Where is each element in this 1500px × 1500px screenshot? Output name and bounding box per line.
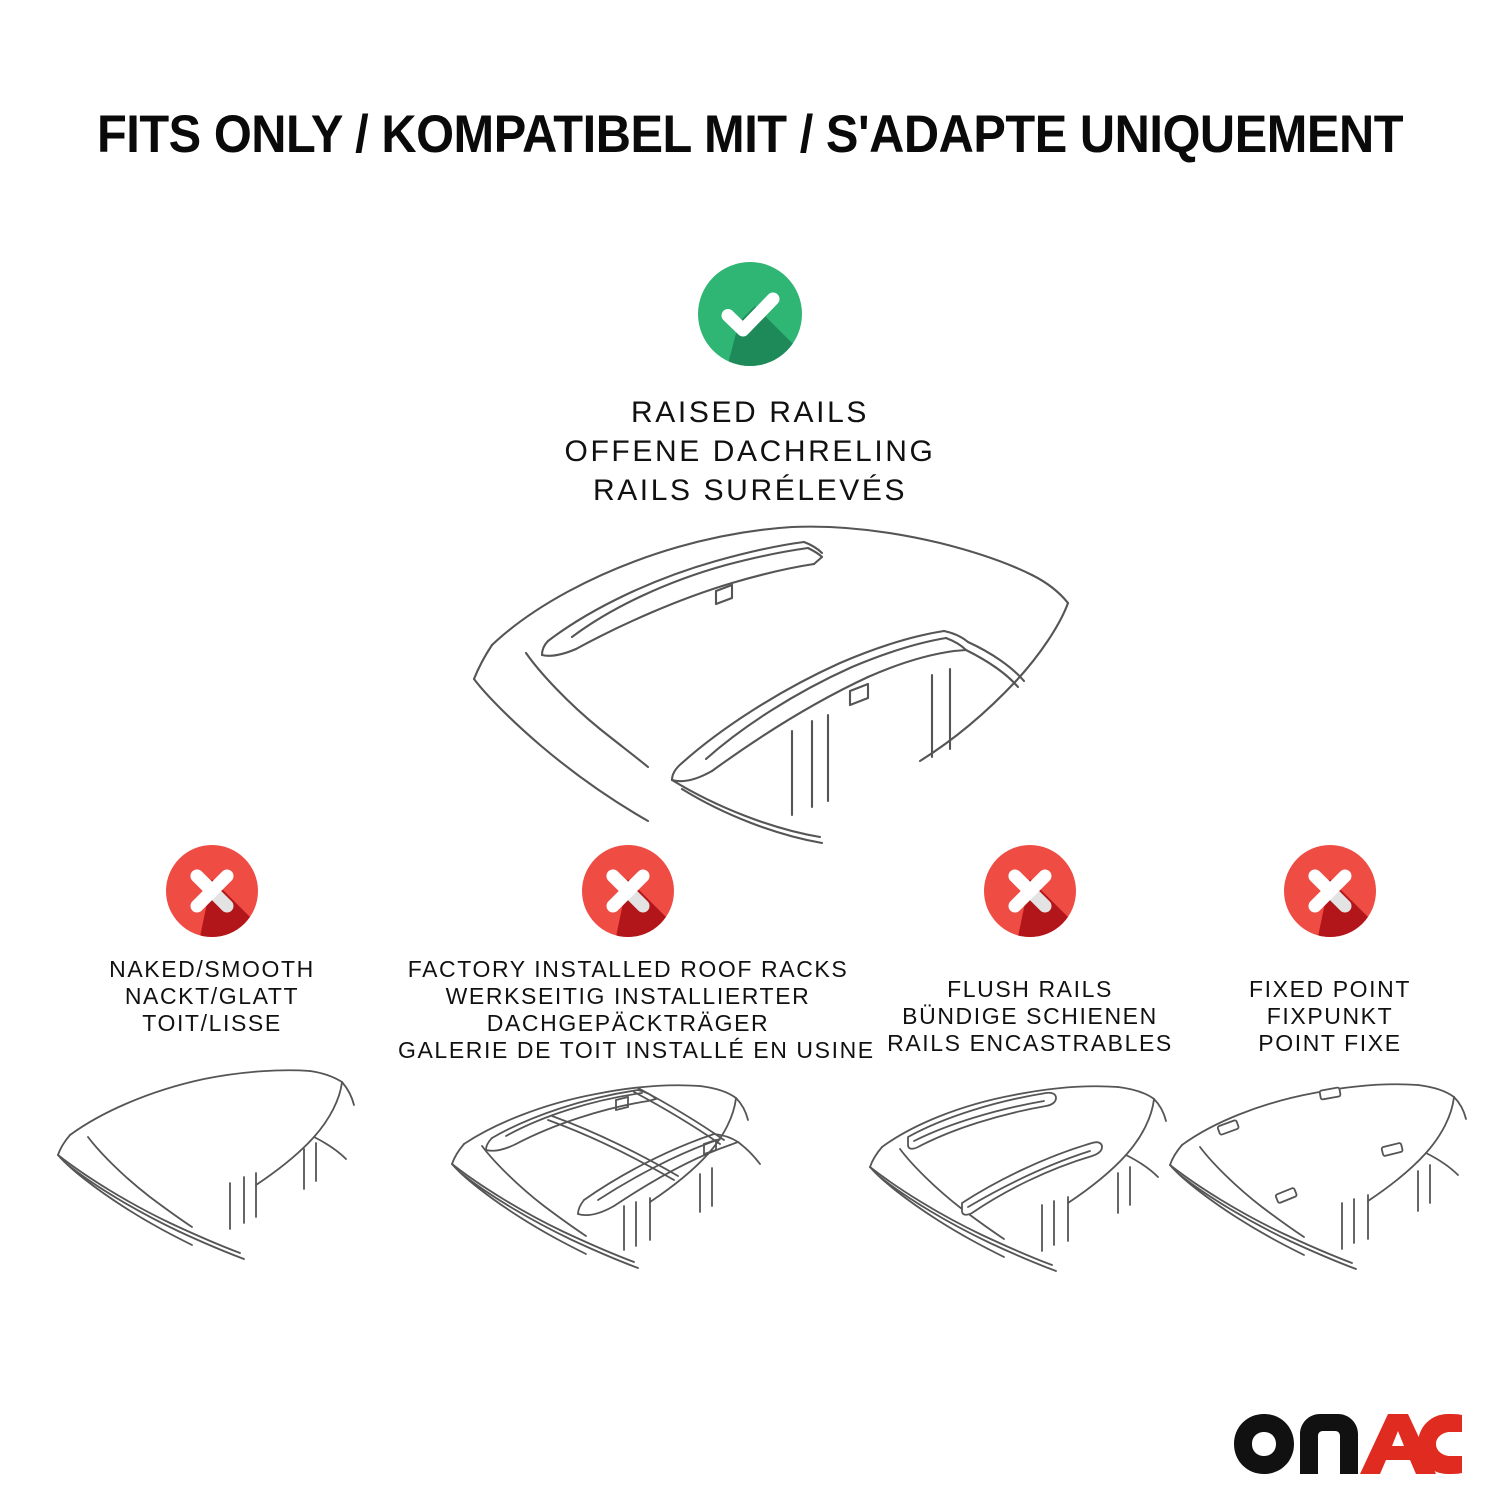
logo-letter-m [1300, 1414, 1358, 1474]
incompatible-label-naked-smooth: NAKED/SMOOTH NACKT/GLATT TOIT/LISSE [52, 956, 372, 1037]
label-line-fr: POINT FIXE [1160, 1030, 1500, 1057]
car-roof-raised-rails-illustration [420, 505, 1110, 835]
label-line-en: FLUSH RAILS [860, 976, 1200, 1003]
x-circle-icon [984, 845, 1076, 937]
incompatible-item-flush-rails: FLUSH RAILS BÜNDIGE SCHIENEN RAILS ENCAS… [860, 845, 1200, 1305]
label-line-en: FACTORY INSTALLED ROOF RACKS [398, 956, 858, 983]
page-title: FITS ONLY / KOMPATIBEL MIT / S'ADAPTE UN… [60, 104, 1440, 165]
car-roof-naked-smooth-illustration [52, 1057, 372, 1282]
car-roof-factory-racks-illustration [398, 1078, 858, 1313]
incompatible-label-flush-rails: FLUSH RAILS BÜNDIGE SCHIENEN RAILS ENCAS… [860, 976, 1200, 1057]
label-line-fr: TOIT/LISSE [52, 1010, 372, 1037]
x-circle-icon [1284, 845, 1376, 937]
incompatible-section: NAKED/SMOOTH NACKT/GLATT TOIT/LISSE [0, 845, 1500, 1325]
incompatible-label-fixed-point: FIXED POINT FIXPUNKT POINT FIXE [1160, 976, 1500, 1057]
car-roof-flush-rails-illustration [860, 1075, 1200, 1305]
incompatible-item-naked-smooth: NAKED/SMOOTH NACKT/GLATT TOIT/LISSE [52, 845, 372, 1282]
compatible-line-de: OFFENE DACHRELING [0, 432, 1500, 471]
label-line-de-1: WERKSEITIG INSTALLIERTER [398, 983, 858, 1010]
fitment-info-graphic: FITS ONLY / KOMPATIBEL MIT / S'ADAPTE UN… [0, 0, 1500, 1500]
compatible-label: RAISED RAILS OFFENE DACHRELING RAILS SUR… [0, 393, 1500, 510]
label-line-fr: RAILS ENCASTRABLES [860, 1030, 1200, 1057]
incompatible-label-factory-racks: FACTORY INSTALLED ROOF RACKS WERKSEITIG … [398, 956, 858, 1064]
label-line-fr: GALERIE DE TOIT INSTALLÉ EN USINE [398, 1037, 858, 1064]
incompatible-item-factory-racks: FACTORY INSTALLED ROOF RACKS WERKSEITIG … [398, 845, 858, 1313]
incompatible-item-fixed-point: FIXED POINT FIXPUNKT POINT FIXE [1160, 845, 1500, 1305]
label-line-en: NAKED/SMOOTH [52, 956, 372, 983]
label-line-en: FIXED POINT [1160, 976, 1500, 1003]
label-line-de: NACKT/GLATT [52, 983, 372, 1010]
label-line-de: BÜNDIGE SCHIENEN [860, 1003, 1200, 1030]
label-line-de: FIXPUNKT [1160, 1003, 1500, 1030]
x-circle-icon [582, 845, 674, 937]
label-line-de-2: DACHGEPÄCKTRÄGER [398, 1010, 858, 1037]
logo-letter-o [1234, 1414, 1294, 1474]
check-circle-icon [698, 262, 802, 366]
compatible-section: RAISED RAILS OFFENE DACHRELING RAILS SUR… [0, 262, 1500, 510]
x-circle-icon [166, 845, 258, 937]
car-roof-fixed-point-illustration [1160, 1075, 1500, 1305]
compatible-line-en: RAISED RAILS [0, 393, 1500, 432]
omac-logo [1232, 1410, 1464, 1478]
